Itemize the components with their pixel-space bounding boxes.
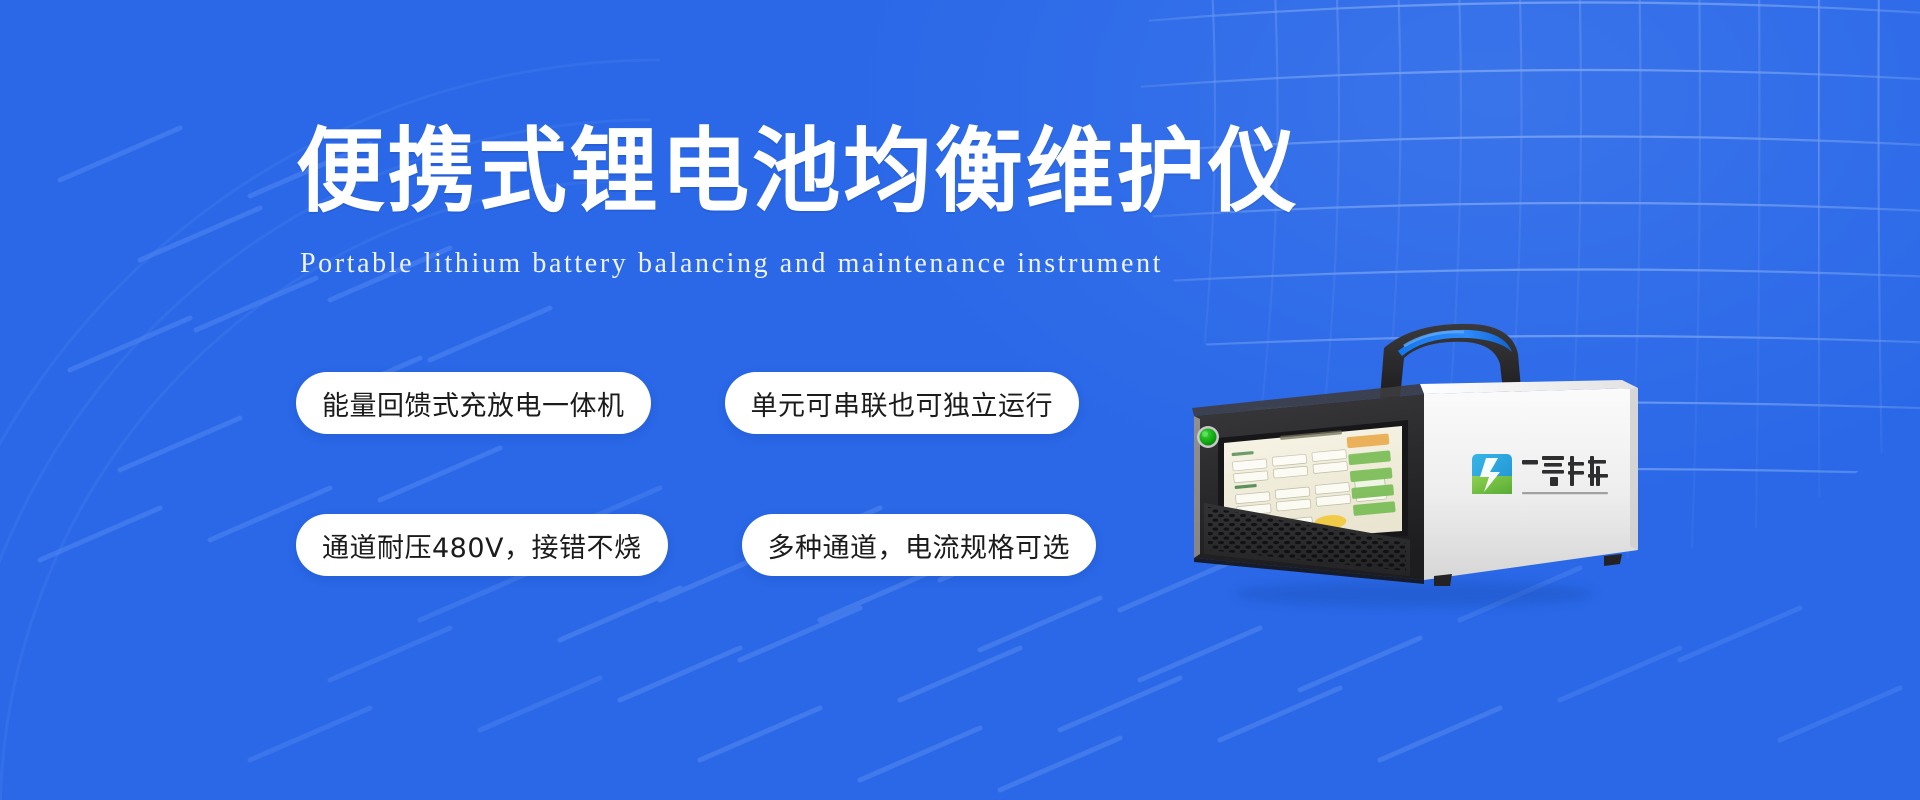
feature-pill-grid: 能量回馈式充放电一体机 单元可串联也可独立运行 通道耐压480V，接错不烧 多种… <box>296 372 1096 576</box>
feature-pill: 单元可串联也可独立运行 <box>725 372 1080 434</box>
page-subtitle: Portable lithium battery balancing and m… <box>300 247 1163 281</box>
feature-pill: 能量回馈式充放电一体机 <box>296 372 651 434</box>
brand-pinyin-text <box>1522 492 1608 494</box>
promo-banner: 便携式锂电池均衡维护仪 Portable lithium battery bal… <box>0 0 1920 800</box>
feature-pill: 多种通道，电流规格可选 <box>742 514 1097 576</box>
device-case <box>1420 380 1638 586</box>
banner-content: 便携式锂电池均衡维护仪 Portable lithium battery bal… <box>0 0 1920 800</box>
product-device-image <box>1152 288 1672 618</box>
feature-row: 通道耐压480V，接错不烧 多种通道，电流规格可选 <box>296 514 1096 576</box>
page-title: 便携式锂电池均衡维护仪 <box>296 123 1299 221</box>
power-button[interactable] <box>1197 426 1219 448</box>
feature-pill: 通道耐压480V，接错不烧 <box>296 514 668 576</box>
feature-row: 能量回馈式充放电一体机 单元可串联也可独立运行 <box>296 372 1096 434</box>
device-shadow <box>1234 581 1594 607</box>
